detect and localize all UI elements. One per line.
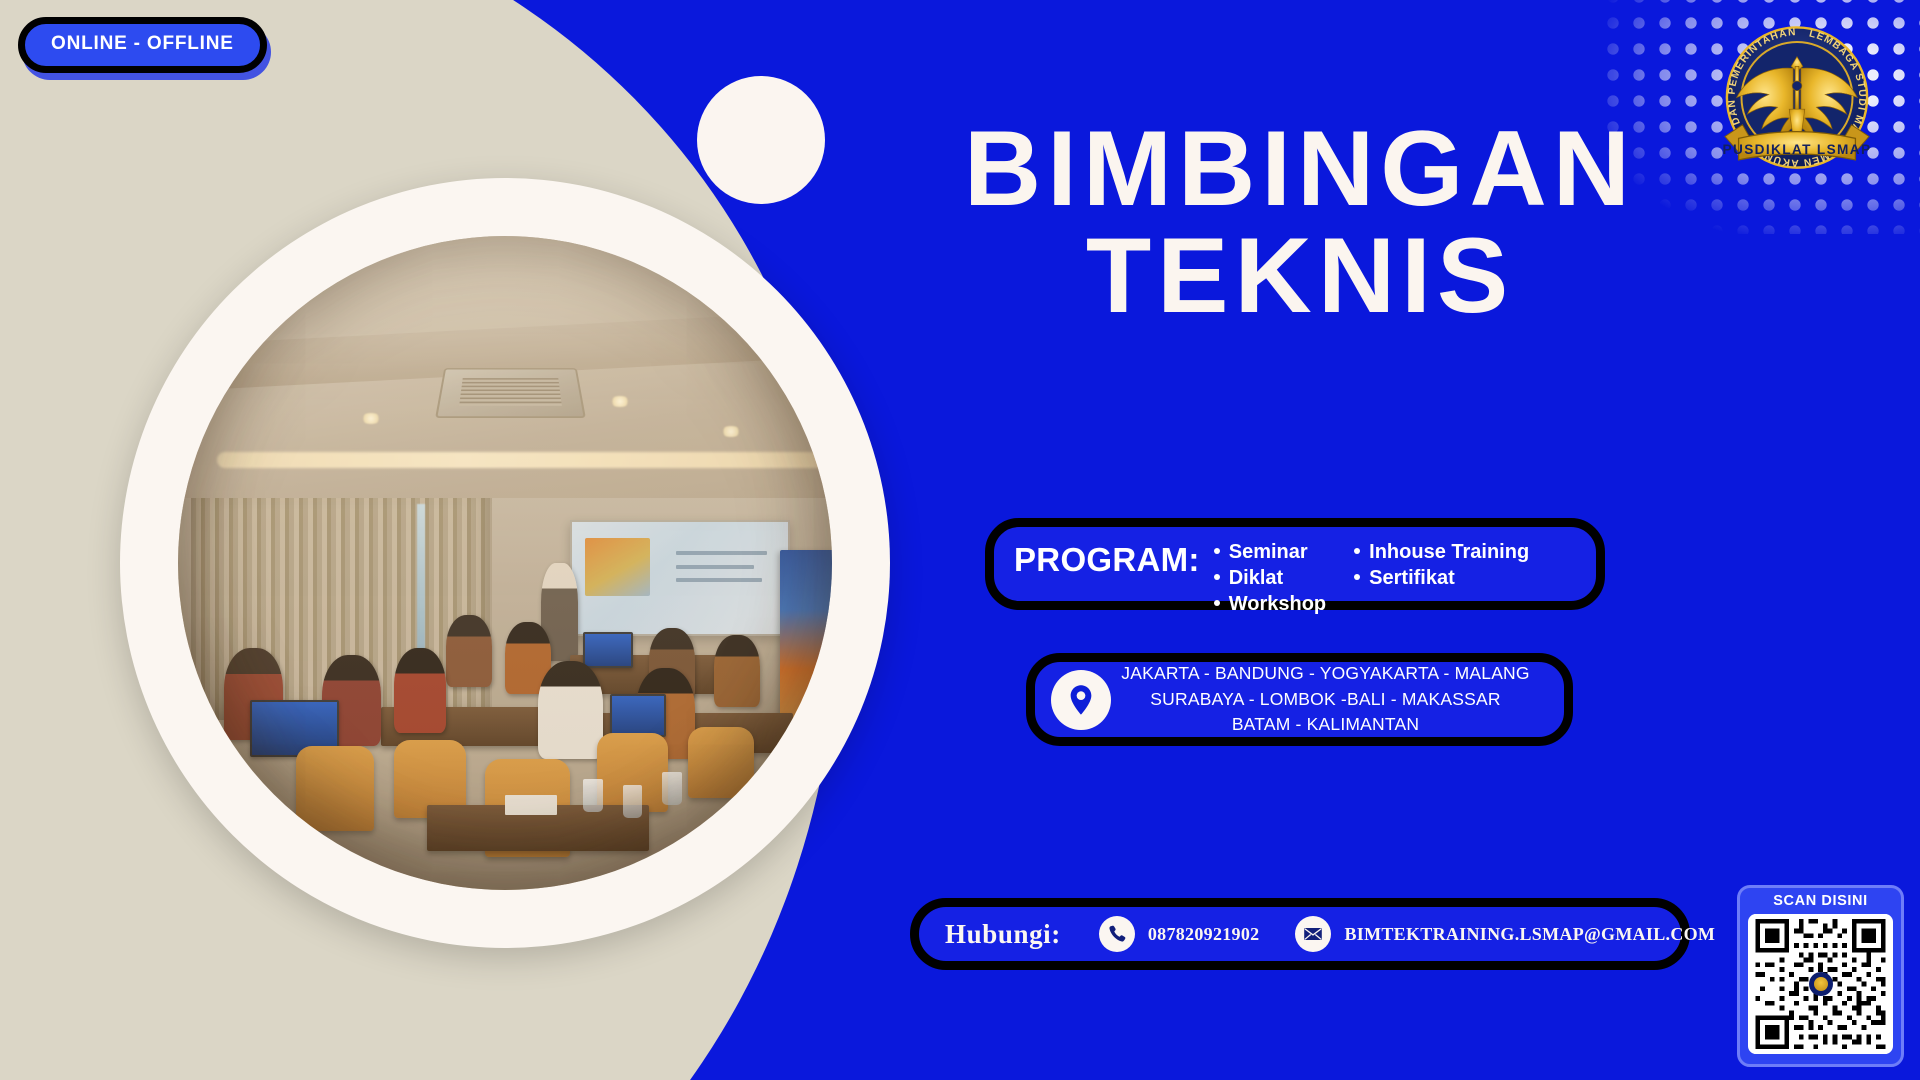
contact-label: Hubungi: [945, 919, 1061, 950]
contact-email[interactable]: BIMTEKTRAINING.LSMAP@GMAIL.COM [1295, 916, 1715, 952]
program-item: Inhouse Training [1354, 539, 1529, 565]
locations-text: JAKARTA - BANDUNG - YOGYAKARTA - MALANG … [1111, 661, 1550, 738]
program-column-1: Seminar Diklat Workshop [1214, 539, 1326, 617]
decorative-circle [697, 76, 825, 204]
qr-code-panel[interactable]: SCAN DISINI [1737, 885, 1904, 1067]
location-pin-icon [1051, 670, 1111, 730]
program-columns: Seminar Diklat Workshop Inhouse Training [1214, 539, 1551, 617]
poster-canvas: ONLINE - OFFLINE [0, 0, 1920, 1080]
online-offline-badge: ONLINE - OFFLINE [18, 17, 267, 73]
program-column-2: Inhouse Training Sertifikat [1354, 539, 1529, 617]
bullet-icon [1354, 574, 1360, 580]
program-item-label: Seminar [1229, 539, 1308, 565]
program-item-label: Sertifikat [1369, 565, 1455, 591]
qr-code-image[interactable] [1748, 914, 1893, 1054]
program-item: Seminar [1214, 539, 1326, 565]
svg-text:PUSDIKLAT LSMAP: PUSDIKLAT LSMAP [1723, 142, 1872, 157]
locations-panel: JAKARTA - BANDUNG - YOGYAKARTA - MALANG … [1026, 653, 1573, 746]
headline-line-2: TEKNIS [905, 225, 1695, 326]
qr-title: SCAN DISINI [1748, 894, 1893, 910]
bullet-icon [1214, 600, 1220, 606]
bullet-icon [1214, 574, 1220, 580]
photo-circle-frame [120, 178, 890, 948]
bullet-icon [1354, 548, 1360, 554]
contact-panel: Hubungi: 087820921902 BIMTEKTRAINING.LSM… [910, 898, 1690, 970]
location-line: JAKARTA - BANDUNG - YOGYAKARTA - MALANG [1111, 661, 1540, 687]
phone-number: 087820921902 [1148, 924, 1260, 945]
contact-phone[interactable]: 087820921902 [1099, 916, 1260, 952]
headline-line-1: BIMBINGAN [905, 118, 1695, 219]
qr-center-logo [1809, 972, 1833, 996]
program-item: Diklat [1214, 565, 1326, 591]
poster-headline: BIMBINGAN TEKNIS [905, 118, 1695, 325]
program-item-label: Workshop [1229, 591, 1326, 617]
program-item: Sertifikat [1354, 565, 1529, 591]
location-line: SURABAYA - LOMBOK -BALI - MAKASSAR [1111, 687, 1540, 713]
program-item-label: Inhouse Training [1369, 539, 1529, 565]
program-panel: PROGRAM: Seminar Diklat Workshop [985, 518, 1605, 610]
seminar-photo [178, 236, 832, 890]
bullet-icon [1214, 548, 1220, 554]
phone-icon [1099, 916, 1135, 952]
program-item-label: Diklat [1229, 565, 1283, 591]
email-address: BIMTEKTRAINING.LSMAP@GMAIL.COM [1344, 924, 1715, 945]
envelope-icon [1295, 916, 1331, 952]
program-item: Workshop [1214, 591, 1326, 617]
location-line: BATAM - KALIMANTAN [1111, 712, 1540, 738]
program-label: PROGRAM: [1014, 543, 1200, 576]
photo-vignette [178, 236, 832, 890]
pusdiklat-lsmap-logo: LEMBAGA STUDI MANAJEMEN AKUNTANSI DAN PE… [1698, 6, 1896, 191]
